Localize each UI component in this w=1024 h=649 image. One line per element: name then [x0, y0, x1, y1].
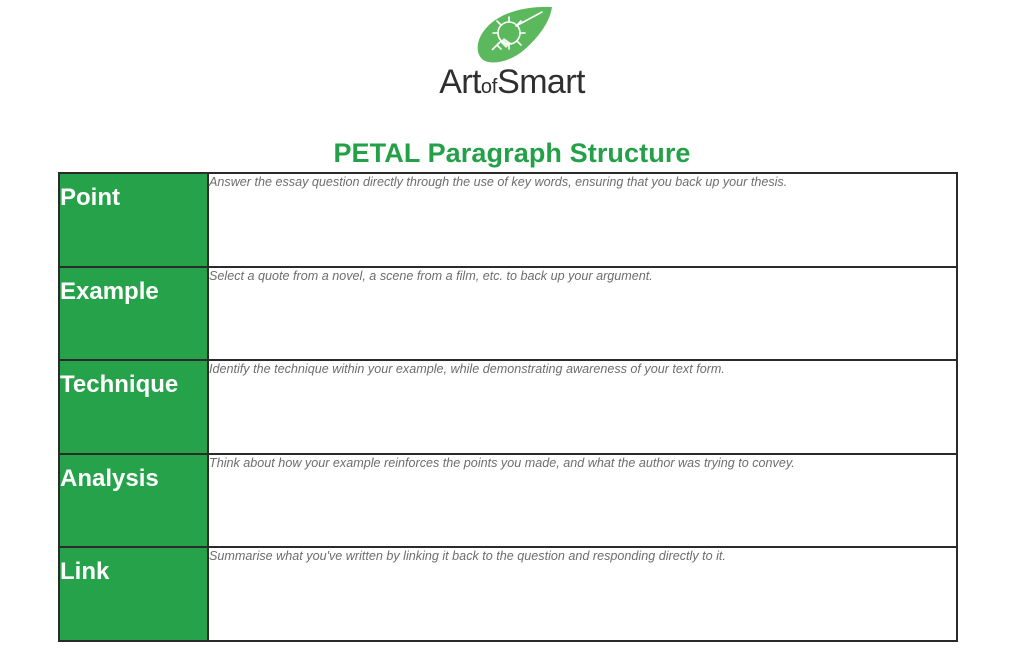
- row-description-cell: Answer the essay question directly throu…: [208, 173, 957, 267]
- wordmark-smart: Smart: [497, 63, 585, 101]
- row-description-cell: Think about how your example reinforces …: [208, 454, 957, 548]
- row-label: Link: [60, 559, 207, 585]
- table-row: Analysis Think about how your example re…: [59, 454, 957, 548]
- row-label-cell: Example: [59, 267, 208, 361]
- row-description: Identify the technique within your examp…: [209, 361, 956, 378]
- row-description: Think about how your example reinforces …: [209, 455, 956, 472]
- row-description: Summarise what you've written by linking…: [209, 548, 956, 565]
- table-row: Technique Identify the technique within …: [59, 360, 957, 454]
- table-row: Example Select a quote from a novel, a s…: [59, 267, 957, 361]
- petal-structure-table: Point Answer the essay question directly…: [58, 172, 958, 642]
- row-label-cell: Point: [59, 173, 208, 267]
- row-label: Analysis: [60, 466, 207, 492]
- row-description-cell: Summarise what you've written by linking…: [208, 547, 957, 641]
- brand-wordmark: ArtofSmart: [439, 65, 585, 99]
- row-description-cell: Select a quote from a novel, a scene fro…: [208, 267, 957, 361]
- row-label-cell: Link: [59, 547, 208, 641]
- row-description: Select a quote from a novel, a scene fro…: [209, 268, 956, 285]
- row-label: Technique: [60, 372, 207, 398]
- wordmark-art: Art: [439, 63, 481, 101]
- row-label: Point: [60, 185, 207, 211]
- row-description-cell: Identify the technique within your examp…: [208, 360, 957, 454]
- row-description: Answer the essay question directly throu…: [209, 174, 956, 191]
- worksheet-page: ArtofSmart PETAL Paragraph Structure Poi…: [0, 0, 1024, 649]
- row-label-cell: Analysis: [59, 454, 208, 548]
- leaf-lightbulb-icon: [464, 4, 560, 64]
- table-row: Link Summarise what you've written by li…: [59, 547, 957, 641]
- table-row: Point Answer the essay question directly…: [59, 173, 957, 267]
- row-label-cell: Technique: [59, 360, 208, 454]
- brand-logo: ArtofSmart: [0, 4, 1024, 99]
- wordmark-of: of: [481, 76, 497, 98]
- page-title: PETAL Paragraph Structure: [0, 138, 1024, 169]
- row-label: Example: [60, 279, 207, 305]
